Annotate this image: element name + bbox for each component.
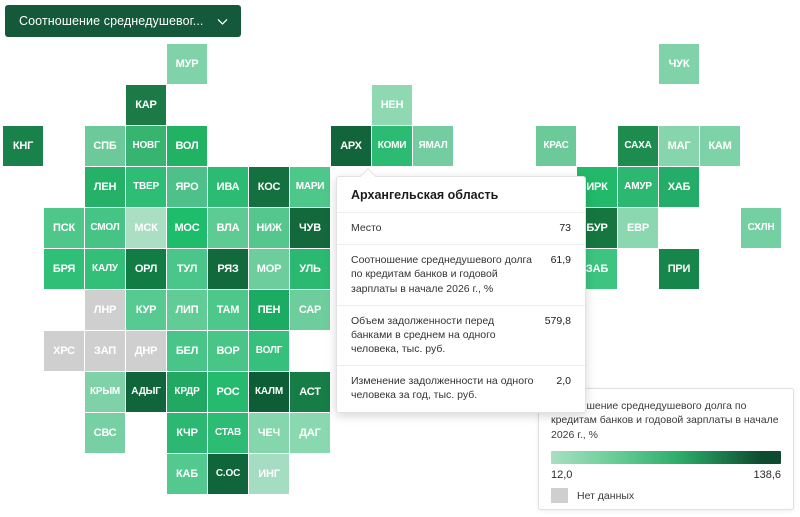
map-tile[interactable]: КОС (249, 167, 289, 207)
map-tile[interactable]: ДНР (126, 331, 166, 371)
map-tile[interactable]: КРЫМ (85, 372, 125, 412)
map-tile[interactable]: ЗАП (85, 331, 125, 371)
map-tile[interactable]: АСТ (290, 372, 330, 412)
map-tile[interactable]: КНГ (3, 126, 43, 166)
map-tile[interactable]: УЛЬ (290, 249, 330, 289)
map-tile[interactable]: ЯМАЛ (413, 126, 453, 166)
tooltip-row-label: Место (351, 221, 551, 235)
map-tile[interactable]: КАР (126, 85, 166, 125)
tooltip-row-label: Объем задолженности перед банками в сред… (351, 314, 537, 357)
map-tile[interactable]: КАЛМ (249, 372, 289, 412)
map-tile[interactable]: КЧР (167, 413, 207, 453)
map-tile[interactable]: С.ОС (208, 454, 248, 494)
legend-color-ramp (551, 451, 781, 464)
tooltip-arrow (359, 168, 377, 177)
map-tile[interactable]: АМУР (618, 167, 658, 207)
map-tile[interactable]: НОВГ (126, 126, 166, 166)
map-tile[interactable]: СМОЛ (85, 208, 125, 248)
map-tile[interactable]: МСК (126, 208, 166, 248)
map-tile[interactable]: МОС (167, 208, 207, 248)
map-tile[interactable]: ВОЛГ (249, 331, 289, 371)
tooltip-row: Объем задолженности перед банками в сред… (337, 305, 585, 366)
map-tile[interactable]: ИНГ (249, 454, 289, 494)
legend-min-value: 12,0 (551, 469, 572, 481)
map-tile[interactable]: БРЯ (44, 249, 84, 289)
map-tile[interactable]: КАБ (167, 454, 207, 494)
no-data-swatch (551, 488, 568, 503)
map-tile[interactable]: ТУЛ (167, 249, 207, 289)
map-tile[interactable]: ЛНР (85, 290, 125, 330)
map-tile[interactable]: ЛИП (167, 290, 207, 330)
no-data-label: Нет данных (577, 490, 634, 502)
map-tile[interactable]: ИВА (208, 167, 248, 207)
map-tile[interactable]: ЕВР (618, 208, 658, 248)
map-tile[interactable]: КАЛУ (85, 249, 125, 289)
map-tile[interactable]: БЕЛ (167, 331, 207, 371)
map-tile[interactable]: СТАВ (208, 413, 248, 453)
tooltip-row-value: 2,0 (556, 374, 571, 388)
map-tile[interactable]: ЯРО (167, 167, 207, 207)
map-tile[interactable]: ХАБ (659, 167, 699, 207)
region-tooltip: Архангельская область Место73Соотношение… (336, 176, 586, 413)
map-tile[interactable]: КУР (126, 290, 166, 330)
tooltip-row-label: Соотношение среднедушевого долга по кред… (351, 253, 543, 296)
legend-max-value: 138,6 (753, 469, 781, 481)
map-tile[interactable]: РЯЗ (208, 249, 248, 289)
map-tile[interactable]: АДЫГ (126, 372, 166, 412)
map-tile[interactable]: ЛЕН (85, 167, 125, 207)
map-tile[interactable]: ТАМ (208, 290, 248, 330)
map-tile[interactable]: СХЛН (741, 208, 781, 248)
map-tile[interactable]: НЕН (372, 85, 412, 125)
map-tile[interactable]: КАМ (700, 126, 740, 166)
map-tile[interactable]: ПСК (44, 208, 84, 248)
map-tile[interactable]: ВЛА (208, 208, 248, 248)
tooltip-row: Место73 (337, 212, 585, 244)
map-tile[interactable]: МАГ (659, 126, 699, 166)
tooltip-row-label: Изменение задолженности на одного челове… (351, 374, 548, 402)
map-tile[interactable]: ВОР (208, 331, 248, 371)
map-tile[interactable]: ОРЛ (126, 249, 166, 289)
chevron-down-icon (216, 15, 229, 28)
map-tile[interactable]: ВОЛ (167, 126, 207, 166)
legend-scale: 12,0 138,6 (551, 469, 781, 481)
metric-selector-dropdown[interactable]: Соотношение среднедушевог... (5, 5, 241, 37)
map-tile[interactable]: КРАС (536, 126, 576, 166)
tooltip-row: Соотношение среднедушевого долга по кред… (337, 244, 585, 305)
tooltip-row-value: 73 (559, 221, 571, 235)
map-tile[interactable]: КРДР (167, 372, 207, 412)
map-tile[interactable]: ПРИ (659, 249, 699, 289)
map-tile[interactable]: СПБ (85, 126, 125, 166)
map-tile[interactable]: ЧУВ (290, 208, 330, 248)
map-tile[interactable]: САХА (618, 126, 658, 166)
map-tile[interactable]: ДАГ (290, 413, 330, 453)
map-tile[interactable]: ЧУК (659, 44, 699, 84)
map-tile[interactable]: МУР (167, 44, 207, 84)
map-tile[interactable]: МОР (249, 249, 289, 289)
map-tile[interactable]: АРХ (331, 126, 371, 166)
map-tile[interactable]: НИЖ (249, 208, 289, 248)
map-tile[interactable]: МАРИ (290, 167, 330, 207)
map-tile[interactable]: КОМИ (372, 126, 412, 166)
map-tile[interactable]: ПЕН (249, 290, 289, 330)
map-tile[interactable]: РОС (208, 372, 248, 412)
tooltip-row: Изменение задолженности на одного челове… (337, 365, 585, 411)
tooltip-rows: Место73Соотношение среднедушевого долга … (337, 212, 585, 412)
map-tile[interactable]: ЧЕЧ (249, 413, 289, 453)
tooltip-row-value: 579,8 (545, 314, 571, 328)
tooltip-title: Архангельская область (337, 177, 585, 212)
map-tile[interactable]: САР (290, 290, 330, 330)
legend-no-data: Нет данных (551, 488, 781, 503)
metric-selector-label: Соотношение среднедушевог... (19, 14, 204, 28)
tooltip-row-value: 61,9 (551, 253, 571, 267)
map-tile[interactable]: СВС (85, 413, 125, 453)
map-tile[interactable]: ТВЕР (126, 167, 166, 207)
map-tile[interactable]: ХРС (44, 331, 84, 371)
